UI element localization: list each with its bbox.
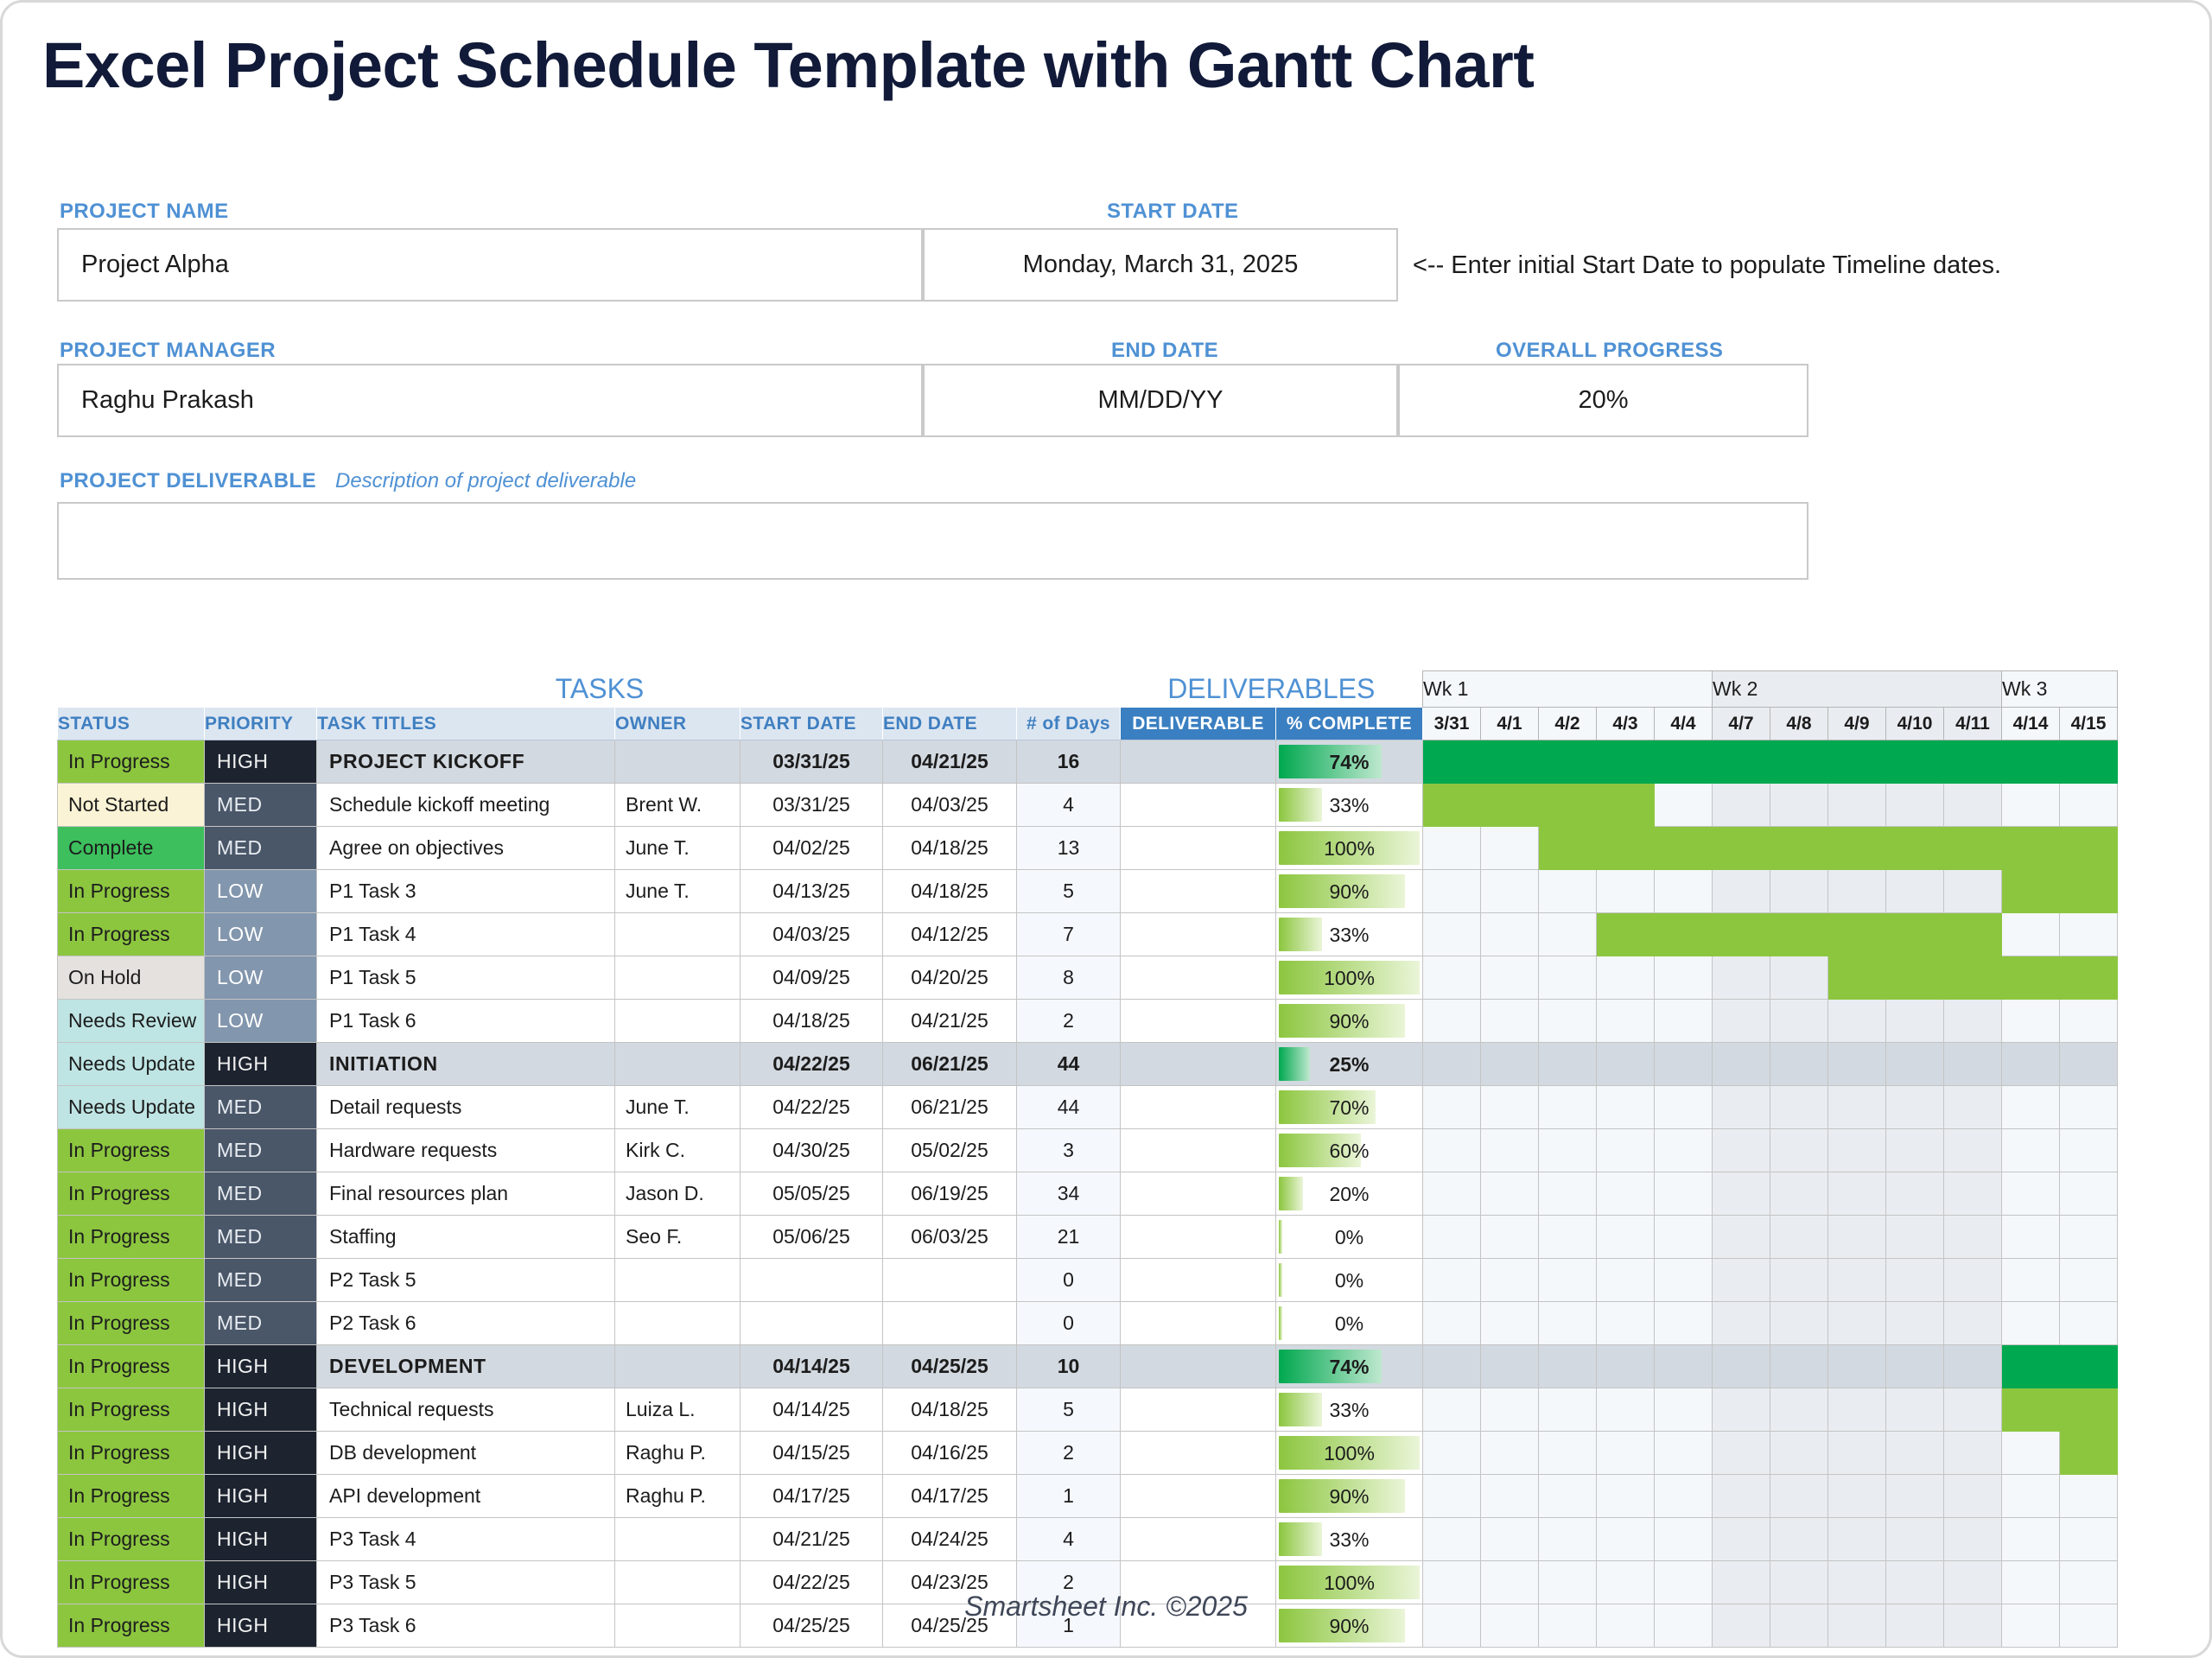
cell-start-date[interactable]: 04/17/25 xyxy=(741,1475,883,1518)
cell-days[interactable]: 4 xyxy=(1017,784,1121,827)
gantt-cell[interactable] xyxy=(1886,870,1944,913)
gantt-cell[interactable] xyxy=(1481,1216,1539,1259)
cell-end-date[interactable]: 04/24/25 xyxy=(883,1518,1017,1561)
cell-start-date[interactable]: 04/14/25 xyxy=(741,1388,883,1432)
gantt-cell[interactable] xyxy=(1770,956,1828,1000)
gantt-cell[interactable] xyxy=(1539,956,1597,1000)
gantt-bar-cell[interactable] xyxy=(1828,956,1886,1000)
cell-pct-complete[interactable]: 100% xyxy=(1276,956,1423,1000)
cell-status[interactable]: Not Started xyxy=(58,784,205,827)
cell-start-date[interactable]: 04/30/25 xyxy=(741,1129,883,1172)
gantt-cell[interactable] xyxy=(1655,870,1713,913)
cell-priority[interactable]: MED xyxy=(205,1302,317,1345)
gantt-cell[interactable] xyxy=(1713,1129,1770,1172)
cell-deliverable[interactable] xyxy=(1121,1216,1276,1259)
gantt-cell[interactable] xyxy=(1655,1518,1713,1561)
cell-owner[interactable]: June T. xyxy=(615,827,741,870)
cell-days[interactable]: 8 xyxy=(1017,956,1121,1000)
gantt-cell[interactable] xyxy=(1481,1259,1539,1302)
col-header-days[interactable]: # of Days xyxy=(1017,708,1121,740)
gantt-cell[interactable] xyxy=(1539,1345,1597,1388)
cell-owner[interactable] xyxy=(615,1259,741,1302)
cell-end-date[interactable]: 06/21/25 xyxy=(883,1043,1017,1086)
cell-deliverable[interactable] xyxy=(1121,784,1276,827)
gantt-bar-cell[interactable] xyxy=(2060,1345,2118,1388)
gantt-cell[interactable] xyxy=(1597,956,1655,1000)
col-header-deliverable[interactable]: DELIVERABLE xyxy=(1121,708,1276,740)
gantt-cell[interactable] xyxy=(1655,1302,1713,1345)
cell-start-date[interactable]: 04/22/25 xyxy=(741,1086,883,1129)
gantt-cell[interactable] xyxy=(1886,1518,1944,1561)
gantt-bar-cell[interactable] xyxy=(1944,740,2002,784)
cell-status[interactable]: In Progress xyxy=(58,1259,205,1302)
cell-deliverable[interactable] xyxy=(1121,1432,1276,1475)
gantt-cell[interactable] xyxy=(1713,1172,1770,1216)
cell-pct-complete[interactable]: 33% xyxy=(1276,784,1423,827)
cell-task-title[interactable]: Schedule kickoff meeting xyxy=(317,784,615,827)
gantt-cell[interactable] xyxy=(2002,1518,2060,1561)
cell-priority[interactable]: MED xyxy=(205,827,317,870)
gantt-cell[interactable] xyxy=(1655,1129,1713,1172)
cell-days[interactable]: 2 xyxy=(1017,1000,1121,1043)
cell-status[interactable]: In Progress xyxy=(58,740,205,784)
gantt-cell[interactable] xyxy=(1828,870,1886,913)
gantt-cell[interactable] xyxy=(1655,1388,1713,1432)
gantt-cell[interactable] xyxy=(1655,1000,1713,1043)
cell-end-date[interactable]: 04/18/25 xyxy=(883,827,1017,870)
gantt-cell[interactable] xyxy=(1713,1518,1770,1561)
cell-pct-complete[interactable]: 0% xyxy=(1276,1259,1423,1302)
gantt-cell[interactable] xyxy=(1481,870,1539,913)
gantt-cell[interactable] xyxy=(1539,1388,1597,1432)
cell-task-title[interactable]: Final resources plan xyxy=(317,1172,615,1216)
cell-task-title[interactable]: API development xyxy=(317,1475,615,1518)
gantt-cell[interactable] xyxy=(1481,827,1539,870)
gantt-bar-cell[interactable] xyxy=(1539,784,1597,827)
gantt-cell[interactable] xyxy=(1597,1302,1655,1345)
cell-end-date[interactable]: 04/12/25 xyxy=(883,913,1017,956)
cell-status[interactable]: In Progress xyxy=(58,1518,205,1561)
gantt-cell[interactable] xyxy=(1423,1345,1481,1388)
cell-deliverable[interactable] xyxy=(1121,827,1276,870)
gantt-cell[interactable] xyxy=(1423,870,1481,913)
gantt-bar-cell[interactable] xyxy=(2002,1345,2060,1388)
gantt-cell[interactable] xyxy=(1944,1259,2002,1302)
gantt-cell[interactable] xyxy=(1944,1172,2002,1216)
gantt-cell[interactable] xyxy=(1944,1216,2002,1259)
gantt-cell[interactable] xyxy=(1886,1475,1944,1518)
cell-task-title[interactable]: INITIATION xyxy=(317,1043,615,1086)
cell-owner[interactable] xyxy=(615,956,741,1000)
cell-pct-complete[interactable]: 25% xyxy=(1276,1043,1423,1086)
gantt-cell[interactable] xyxy=(1539,1216,1597,1259)
gantt-cell[interactable] xyxy=(1597,1172,1655,1216)
cell-status[interactable]: On Hold xyxy=(58,956,205,1000)
overall-progress-field[interactable]: 20% xyxy=(1398,364,1808,437)
gantt-bar-cell[interactable] xyxy=(1770,740,1828,784)
gantt-cell[interactable] xyxy=(2002,1302,2060,1345)
gantt-cell[interactable] xyxy=(1944,1432,2002,1475)
gantt-cell[interactable] xyxy=(1655,1172,1713,1216)
gantt-cell[interactable] xyxy=(1423,1518,1481,1561)
cell-owner[interactable]: Raghu P. xyxy=(615,1475,741,1518)
gantt-bar-cell[interactable] xyxy=(1597,827,1655,870)
col-header-owner[interactable]: OWNER xyxy=(615,708,741,740)
cell-priority[interactable]: LOW xyxy=(205,870,317,913)
cell-start-date[interactable]: 04/22/25 xyxy=(741,1043,883,1086)
cell-start-date[interactable]: 03/31/25 xyxy=(741,740,883,784)
gantt-cell[interactable] xyxy=(1713,1432,1770,1475)
gantt-cell[interactable] xyxy=(1597,1345,1655,1388)
gantt-cell[interactable] xyxy=(1828,1043,1886,1086)
gantt-bar-cell[interactable] xyxy=(1655,827,1713,870)
cell-owner[interactable] xyxy=(615,1302,741,1345)
cell-start-date[interactable]: 04/21/25 xyxy=(741,1518,883,1561)
gantt-cell[interactable] xyxy=(1770,1129,1828,1172)
cell-deliverable[interactable] xyxy=(1121,1475,1276,1518)
cell-pct-complete[interactable]: 74% xyxy=(1276,740,1423,784)
cell-priority[interactable]: MED xyxy=(205,784,317,827)
gantt-cell[interactable] xyxy=(1423,1475,1481,1518)
cell-priority[interactable]: HIGH xyxy=(205,1432,317,1475)
gantt-cell[interactable] xyxy=(2002,784,2060,827)
cell-deliverable[interactable] xyxy=(1121,1345,1276,1388)
cell-days[interactable]: 3 xyxy=(1017,1129,1121,1172)
cell-end-date[interactable]: 04/03/25 xyxy=(883,784,1017,827)
gantt-bar-cell[interactable] xyxy=(1423,740,1481,784)
gantt-cell[interactable] xyxy=(1597,1475,1655,1518)
cell-deliverable[interactable] xyxy=(1121,1172,1276,1216)
gantt-bar-cell[interactable] xyxy=(1713,827,1770,870)
cell-priority[interactable]: LOW xyxy=(205,1000,317,1043)
gantt-cell[interactable] xyxy=(1539,1129,1597,1172)
cell-status[interactable]: In Progress xyxy=(58,913,205,956)
gantt-cell[interactable] xyxy=(1944,1302,2002,1345)
col-header-task-titles[interactable]: TASK TITLES xyxy=(317,708,615,740)
gantt-cell[interactable] xyxy=(2060,1086,2118,1129)
cell-end-date[interactable]: 04/21/25 xyxy=(883,740,1017,784)
gantt-cell[interactable] xyxy=(1539,1043,1597,1086)
col-header-priority[interactable]: PRIORITY xyxy=(205,708,317,740)
gantt-bar-cell[interactable] xyxy=(1481,784,1539,827)
cell-priority[interactable]: HIGH xyxy=(205,740,317,784)
cell-days[interactable]: 5 xyxy=(1017,870,1121,913)
cell-end-date[interactable]: 04/16/25 xyxy=(883,1432,1017,1475)
gantt-cell[interactable] xyxy=(2002,913,2060,956)
cell-deliverable[interactable] xyxy=(1121,1518,1276,1561)
gantt-cell[interactable] xyxy=(1539,870,1597,913)
gantt-cell[interactable] xyxy=(1944,1043,2002,1086)
cell-pct-complete[interactable]: 90% xyxy=(1276,1604,1423,1648)
gantt-cell[interactable] xyxy=(2002,1000,2060,1043)
gantt-cell[interactable] xyxy=(1944,1129,2002,1172)
cell-days[interactable]: 10 xyxy=(1017,1345,1121,1388)
gantt-bar-cell[interactable] xyxy=(1770,913,1828,956)
gantt-cell[interactable] xyxy=(1423,956,1481,1000)
cell-pct-complete[interactable]: 90% xyxy=(1276,1475,1423,1518)
gantt-cell[interactable] xyxy=(1944,1086,2002,1129)
gantt-cell[interactable] xyxy=(1423,1216,1481,1259)
cell-status[interactable]: Needs Update xyxy=(58,1086,205,1129)
cell-start-date[interactable]: 04/02/25 xyxy=(741,827,883,870)
cell-days[interactable]: 34 xyxy=(1017,1172,1121,1216)
cell-status[interactable]: In Progress xyxy=(58,1432,205,1475)
gantt-cell[interactable] xyxy=(1713,784,1770,827)
gantt-cell[interactable] xyxy=(1828,784,1886,827)
gantt-cell[interactable] xyxy=(1944,870,2002,913)
gantt-cell[interactable] xyxy=(1539,1086,1597,1129)
cell-status[interactable]: In Progress xyxy=(58,1475,205,1518)
cell-pct-complete[interactable]: 70% xyxy=(1276,1086,1423,1129)
gantt-bar-cell[interactable] xyxy=(1828,913,1886,956)
gantt-cell[interactable] xyxy=(1539,1302,1597,1345)
cell-task-title[interactable]: P1 Task 5 xyxy=(317,956,615,1000)
gantt-cell[interactable] xyxy=(1770,870,1828,913)
gantt-cell[interactable] xyxy=(1770,784,1828,827)
cell-priority[interactable]: HIGH xyxy=(205,1518,317,1561)
cell-deliverable[interactable] xyxy=(1121,1086,1276,1129)
gantt-bar-cell[interactable] xyxy=(1944,913,2002,956)
gantt-bar-cell[interactable] xyxy=(1828,740,1886,784)
gantt-cell[interactable] xyxy=(2060,1129,2118,1172)
cell-priority[interactable]: MED xyxy=(205,1259,317,1302)
col-header-status[interactable]: STATUS xyxy=(58,708,205,740)
cell-priority[interactable]: HIGH xyxy=(205,1475,317,1518)
gantt-cell[interactable] xyxy=(1770,1216,1828,1259)
gantt-cell[interactable] xyxy=(2002,1432,2060,1475)
gantt-cell[interactable] xyxy=(1423,827,1481,870)
gantt-cell[interactable] xyxy=(1713,956,1770,1000)
gantt-bar-cell[interactable] xyxy=(1886,956,1944,1000)
cell-start-date[interactable]: 04/14/25 xyxy=(741,1345,883,1388)
cell-days[interactable]: 44 xyxy=(1017,1086,1121,1129)
cell-end-date[interactable] xyxy=(883,1302,1017,1345)
cell-task-title[interactable]: P2 Task 6 xyxy=(317,1302,615,1345)
gantt-cell[interactable] xyxy=(1713,1043,1770,1086)
gantt-cell[interactable] xyxy=(1770,1259,1828,1302)
cell-deliverable[interactable] xyxy=(1121,1043,1276,1086)
cell-task-title[interactable]: P2 Task 5 xyxy=(317,1259,615,1302)
cell-start-date[interactable]: 03/31/25 xyxy=(741,784,883,827)
gantt-cell[interactable] xyxy=(1597,1086,1655,1129)
start-date-field[interactable]: Monday, March 31, 2025 xyxy=(923,228,1398,302)
gantt-cell[interactable] xyxy=(1597,1432,1655,1475)
gantt-bar-cell[interactable] xyxy=(2060,740,2118,784)
gantt-cell[interactable] xyxy=(1713,1475,1770,1518)
cell-status[interactable]: In Progress xyxy=(58,870,205,913)
cell-pct-complete[interactable]: 33% xyxy=(1276,1388,1423,1432)
cell-end-date[interactable]: 04/17/25 xyxy=(883,1475,1017,1518)
gantt-cell[interactable] xyxy=(1770,1432,1828,1475)
cell-pct-complete[interactable]: 100% xyxy=(1276,1561,1423,1604)
gantt-cell[interactable] xyxy=(1481,1518,1539,1561)
cell-owner[interactable] xyxy=(615,1345,741,1388)
gantt-cell[interactable] xyxy=(1828,1388,1886,1432)
gantt-cell[interactable] xyxy=(1423,1302,1481,1345)
cell-deliverable[interactable] xyxy=(1121,1129,1276,1172)
gantt-cell[interactable] xyxy=(1481,1302,1539,1345)
cell-owner[interactable]: Kirk C. xyxy=(615,1129,741,1172)
cell-pct-complete[interactable]: 90% xyxy=(1276,1000,1423,1043)
cell-owner[interactable]: Raghu P. xyxy=(615,1432,741,1475)
cell-priority[interactable]: LOW xyxy=(205,956,317,1000)
gantt-cell[interactable] xyxy=(1423,1086,1481,1129)
gantt-cell[interactable] xyxy=(1713,1000,1770,1043)
cell-start-date[interactable]: 04/13/25 xyxy=(741,870,883,913)
gantt-cell[interactable] xyxy=(1481,1086,1539,1129)
gantt-cell[interactable] xyxy=(1539,1475,1597,1518)
gantt-bar-cell[interactable] xyxy=(2002,740,2060,784)
cell-task-title[interactable]: Hardware requests xyxy=(317,1129,615,1172)
cell-status[interactable]: In Progress xyxy=(58,1388,205,1432)
cell-start-date[interactable]: 05/05/25 xyxy=(741,1172,883,1216)
cell-pct-complete[interactable]: 33% xyxy=(1276,1518,1423,1561)
gantt-cell[interactable] xyxy=(1886,1388,1944,1432)
gantt-cell[interactable] xyxy=(1770,1475,1828,1518)
cell-owner[interactable]: June T. xyxy=(615,870,741,913)
gantt-bar-cell[interactable] xyxy=(1539,827,1597,870)
cell-status[interactable]: In Progress xyxy=(58,1216,205,1259)
gantt-cell[interactable] xyxy=(1481,1129,1539,1172)
cell-status[interactable]: Complete xyxy=(58,827,205,870)
cell-start-date[interactable]: 05/06/25 xyxy=(741,1216,883,1259)
gantt-cell[interactable] xyxy=(1770,1043,1828,1086)
cell-task-title[interactable]: PROJECT KICKOFF xyxy=(317,740,615,784)
cell-start-date[interactable]: 04/09/25 xyxy=(741,956,883,1000)
gantt-cell[interactable] xyxy=(1770,1086,1828,1129)
cell-priority[interactable]: LOW xyxy=(205,913,317,956)
gantt-cell[interactable] xyxy=(2060,1000,2118,1043)
gantt-cell[interactable] xyxy=(1828,1518,1886,1561)
gantt-cell[interactable] xyxy=(1539,913,1597,956)
cell-priority[interactable]: HIGH xyxy=(205,1043,317,1086)
cell-days[interactable]: 1 xyxy=(1017,1475,1121,1518)
gantt-cell[interactable] xyxy=(1944,1475,2002,1518)
gantt-cell[interactable] xyxy=(1481,956,1539,1000)
cell-task-title[interactable]: DB development xyxy=(317,1432,615,1475)
cell-end-date[interactable]: 06/19/25 xyxy=(883,1172,1017,1216)
cell-days[interactable]: 2 xyxy=(1017,1432,1121,1475)
gantt-cell[interactable] xyxy=(1770,1172,1828,1216)
gantt-cell[interactable] xyxy=(1423,1043,1481,1086)
gantt-cell[interactable] xyxy=(1828,1259,1886,1302)
gantt-cell[interactable] xyxy=(1944,1518,2002,1561)
gantt-cell[interactable] xyxy=(1886,1259,1944,1302)
cell-start-date[interactable]: 04/15/25 xyxy=(741,1432,883,1475)
gantt-cell[interactable] xyxy=(1886,1043,1944,1086)
gantt-cell[interactable] xyxy=(1423,913,1481,956)
gantt-cell[interactable] xyxy=(1886,1129,1944,1172)
gantt-cell[interactable] xyxy=(1944,784,2002,827)
cell-task-title[interactable]: P1 Task 4 xyxy=(317,913,615,956)
gantt-cell[interactable] xyxy=(1423,1000,1481,1043)
gantt-cell[interactable] xyxy=(1655,956,1713,1000)
gantt-cell[interactable] xyxy=(1655,1475,1713,1518)
cell-priority[interactable]: HIGH xyxy=(205,1345,317,1388)
gantt-cell[interactable] xyxy=(1481,1388,1539,1432)
cell-pct-complete[interactable]: 20% xyxy=(1276,1172,1423,1216)
cell-days[interactable]: 7 xyxy=(1017,913,1121,956)
gantt-cell[interactable] xyxy=(1770,1000,1828,1043)
gantt-cell[interactable] xyxy=(1481,913,1539,956)
cell-owner[interactable]: Luiza L. xyxy=(615,1388,741,1432)
cell-end-date[interactable]: 04/18/25 xyxy=(883,1388,1017,1432)
cell-start-date[interactable] xyxy=(741,1302,883,1345)
gantt-cell[interactable] xyxy=(2002,1129,2060,1172)
gantt-bar-cell[interactable] xyxy=(1770,827,1828,870)
cell-end-date[interactable]: 04/20/25 xyxy=(883,956,1017,1000)
gantt-cell[interactable] xyxy=(1886,784,1944,827)
cell-task-title[interactable]: Staffing xyxy=(317,1216,615,1259)
gantt-bar-cell[interactable] xyxy=(1713,913,1770,956)
gantt-cell[interactable] xyxy=(1539,1000,1597,1043)
gantt-cell[interactable] xyxy=(1886,1302,1944,1345)
gantt-cell[interactable] xyxy=(1828,1000,1886,1043)
gantt-cell[interactable] xyxy=(1597,870,1655,913)
cell-task-title[interactable]: DEVELOPMENT xyxy=(317,1345,615,1388)
cell-pct-complete[interactable]: 0% xyxy=(1276,1302,1423,1345)
cell-end-date[interactable]: 06/03/25 xyxy=(883,1216,1017,1259)
cell-priority[interactable]: MED xyxy=(205,1129,317,1172)
gantt-bar-cell[interactable] xyxy=(2060,1432,2118,1475)
gantt-bar-cell[interactable] xyxy=(2060,1388,2118,1432)
cell-owner[interactable] xyxy=(615,1518,741,1561)
cell-owner[interactable] xyxy=(615,1000,741,1043)
gantt-cell[interactable] xyxy=(1713,1086,1770,1129)
gantt-cell[interactable] xyxy=(1655,1043,1713,1086)
cell-owner[interactable]: Jason D. xyxy=(615,1172,741,1216)
project-name-field[interactable]: Project Alpha xyxy=(57,228,923,302)
gantt-bar-cell[interactable] xyxy=(2002,956,2060,1000)
cell-owner[interactable]: Brent W. xyxy=(615,784,741,827)
cell-end-date[interactable]: 05/02/25 xyxy=(883,1129,1017,1172)
gantt-cell[interactable] xyxy=(1597,1518,1655,1561)
gantt-cell[interactable] xyxy=(1655,1345,1713,1388)
gantt-bar-cell[interactable] xyxy=(2060,827,2118,870)
gantt-bar-cell[interactable] xyxy=(1886,740,1944,784)
cell-status[interactable]: Needs Update xyxy=(58,1043,205,1086)
gantt-cell[interactable] xyxy=(1828,1086,1886,1129)
gantt-bar-cell[interactable] xyxy=(1828,827,1886,870)
cell-status[interactable]: In Progress xyxy=(58,1302,205,1345)
cell-owner[interactable]: June T. xyxy=(615,1086,741,1129)
cell-task-title[interactable]: P1 Task 3 xyxy=(317,870,615,913)
cell-owner[interactable] xyxy=(615,740,741,784)
gantt-cell[interactable] xyxy=(1770,1345,1828,1388)
gantt-cell[interactable] xyxy=(1886,1172,1944,1216)
cell-task-title[interactable]: Technical requests xyxy=(317,1388,615,1432)
cell-days[interactable]: 44 xyxy=(1017,1043,1121,1086)
gantt-cell[interactable] xyxy=(2002,1043,2060,1086)
gantt-cell[interactable] xyxy=(1770,1388,1828,1432)
gantt-cell[interactable] xyxy=(1828,1129,1886,1172)
gantt-cell[interactable] xyxy=(1770,1518,1828,1561)
cell-status[interactable]: In Progress xyxy=(58,1129,205,1172)
cell-deliverable[interactable] xyxy=(1121,956,1276,1000)
gantt-cell[interactable] xyxy=(2060,784,2118,827)
gantt-cell[interactable] xyxy=(1481,1432,1539,1475)
cell-pct-complete[interactable]: 0% xyxy=(1276,1216,1423,1259)
cell-pct-complete[interactable]: 100% xyxy=(1276,827,1423,870)
gantt-cell[interactable] xyxy=(2060,1043,2118,1086)
gantt-bar-cell[interactable] xyxy=(1597,913,1655,956)
gantt-cell[interactable] xyxy=(1713,870,1770,913)
cell-pct-complete[interactable]: 33% xyxy=(1276,913,1423,956)
gantt-bar-cell[interactable] xyxy=(1886,827,1944,870)
gantt-cell[interactable] xyxy=(2002,1172,2060,1216)
gantt-bar-cell[interactable] xyxy=(1655,913,1713,956)
gantt-bar-cell[interactable] xyxy=(1944,827,2002,870)
